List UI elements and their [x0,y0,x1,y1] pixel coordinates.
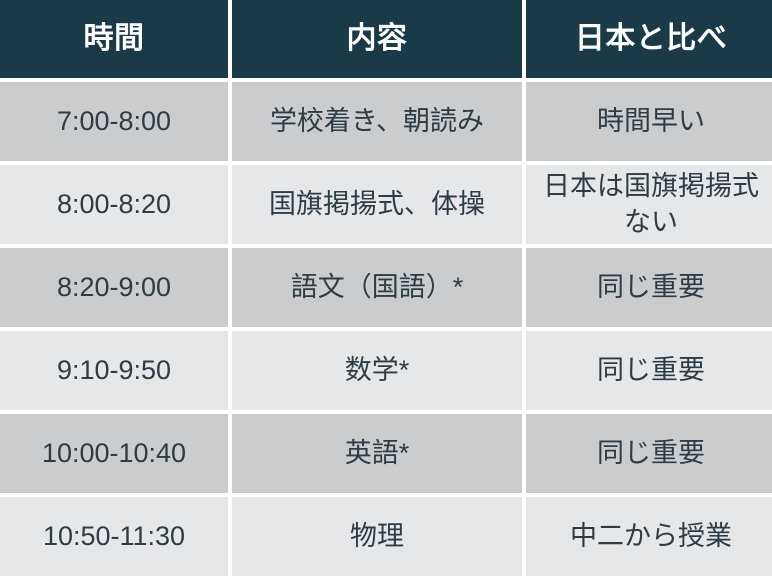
table-row: 10:50-11:30 物理 中二から授業 [0,497,772,576]
table-header: 時間 内容 日本と比べ [0,0,772,78]
cell-compare: 日本は国旗掲揚式ない [526,165,772,244]
schedule-table-container: 時間 内容 日本と比べ 7:00-8:00 学校着き、朝読み 時間早い 8:00… [0,0,772,582]
table-row: 8:20-9:00 語文（国語）* 同じ重要 [0,248,772,327]
cell-content: 語文（国語）* [232,248,522,327]
table-body: 7:00-8:00 学校着き、朝読み 時間早い 8:00-8:20 国旗掲揚式、… [0,82,772,576]
cell-content: 学校着き、朝読み [232,82,522,161]
column-header-time: 時間 [0,0,228,78]
table-row: 7:00-8:00 学校着き、朝読み 時間早い [0,82,772,161]
cell-content: 物理 [232,497,522,576]
cell-compare: 同じ重要 [526,248,772,327]
table-row: 10:00-10:40 英語* 同じ重要 [0,414,772,493]
cell-compare: 同じ重要 [526,331,772,410]
cell-content: 英語* [232,414,522,493]
cell-time: 8:20-9:00 [0,248,228,327]
table-header-row: 時間 内容 日本と比べ [0,0,772,78]
cell-content: 国旗掲揚式、体操 [232,165,522,244]
cell-time: 10:00-10:40 [0,414,228,493]
column-header-compare: 日本と比べ [526,0,772,78]
cell-time: 8:00-8:20 [0,165,228,244]
table-row: 9:10-9:50 数学* 同じ重要 [0,331,772,410]
cell-compare: 時間早い [526,82,772,161]
cell-time: 10:50-11:30 [0,497,228,576]
cell-time: 9:10-9:50 [0,331,228,410]
cell-time: 7:00-8:00 [0,82,228,161]
cell-content: 数学* [232,331,522,410]
cell-compare: 中二から授業 [526,497,772,576]
cell-compare: 同じ重要 [526,414,772,493]
table-row: 8:00-8:20 国旗掲揚式、体操 日本は国旗掲揚式ない [0,165,772,244]
column-header-content: 内容 [232,0,522,78]
schedule-table: 時間 内容 日本と比べ 7:00-8:00 学校着き、朝読み 時間早い 8:00… [0,0,772,580]
